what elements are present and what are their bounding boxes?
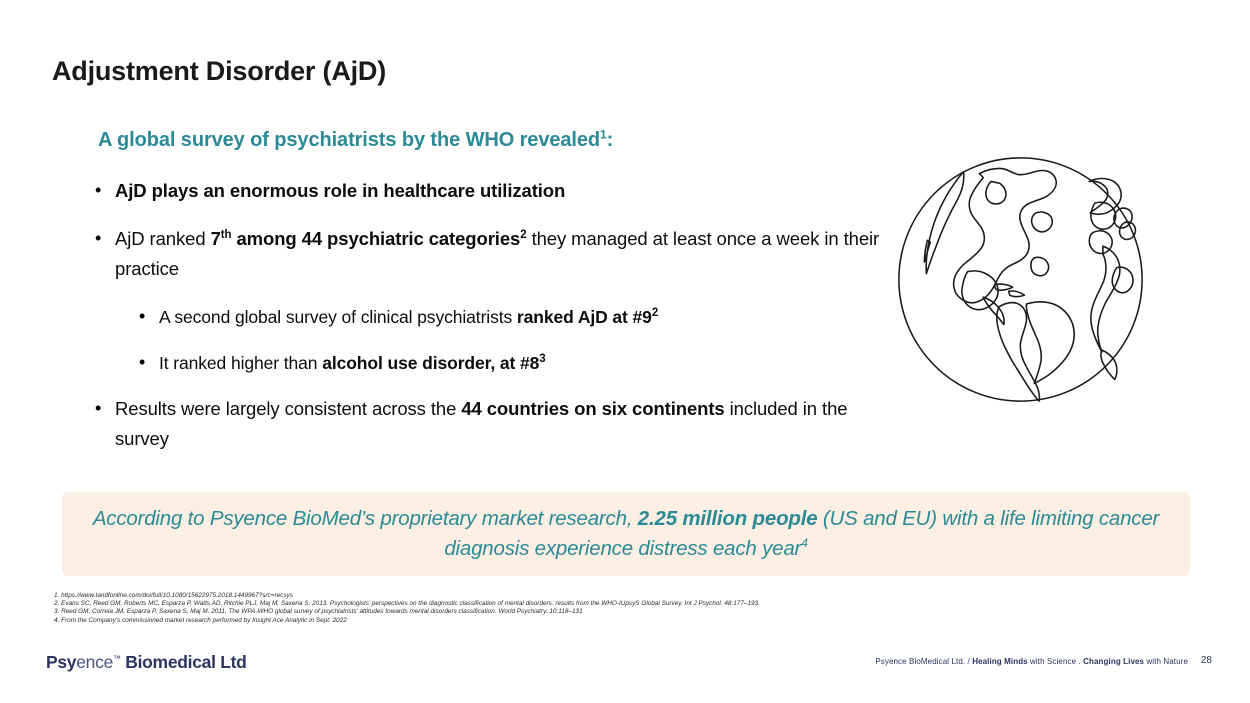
text-run: 2 bbox=[652, 307, 658, 319]
footnote-item: 1. https://www.tandfonline.com/doi/full/… bbox=[54, 592, 1054, 600]
logo-biomedical-ltd: Biomedical Ltd bbox=[125, 652, 246, 672]
bullet-marker-icon: • bbox=[95, 176, 115, 204]
bullet-item: •AjD plays an enormous role in healthcar… bbox=[95, 176, 885, 206]
bullet-marker-icon: • bbox=[139, 348, 159, 376]
logo-trademark: ™ bbox=[113, 654, 121, 663]
bullet-text: AjD plays an enormous role in healthcare… bbox=[115, 176, 565, 206]
bullet-text: AjD ranked 7th among 44 psychiatric cate… bbox=[115, 224, 885, 284]
text-run: 4 bbox=[801, 536, 807, 550]
bullet-text: It ranked higher than alcohol use disord… bbox=[159, 348, 546, 378]
page-number: 28 bbox=[1201, 655, 1212, 666]
bullet-item: •AjD ranked 7th among 44 psychiatric cat… bbox=[95, 224, 885, 284]
text-run: A second global survey of clinical psych… bbox=[159, 307, 517, 327]
text-run: Healing Minds bbox=[972, 657, 1028, 666]
bullet-marker-icon: • bbox=[95, 224, 115, 252]
text-run: with Science . bbox=[1028, 657, 1083, 666]
text-run: ranked AjD at #9 bbox=[517, 307, 652, 327]
text-run: 3 bbox=[539, 353, 545, 365]
logo-psy: Psy bbox=[46, 652, 76, 672]
footer-tagline: Psyence BioMedical Ltd. / Healing Minds … bbox=[875, 657, 1188, 666]
sub-bullet-item: •It ranked higher than alcohol use disor… bbox=[139, 348, 885, 378]
text-run: Results were largely consistent across t… bbox=[115, 398, 461, 419]
footnote-item: 4. From the Company’s commissioned marke… bbox=[54, 617, 1054, 625]
text-run: 44 countries on six continents bbox=[461, 398, 724, 419]
text-run: 7 bbox=[211, 228, 221, 249]
bullet-item: •Results were largely consistent across … bbox=[95, 394, 885, 454]
page-title: Adjustment Disorder (AjD) bbox=[52, 56, 386, 87]
callout-text: According to Psyence BioMed’s proprietar… bbox=[62, 504, 1190, 564]
text-run: Changing Lives bbox=[1083, 657, 1144, 666]
text-run: It ranked higher than bbox=[159, 353, 322, 373]
text-run: among 44 psychiatric categories bbox=[231, 228, 520, 249]
subtitle-superscript: 1 bbox=[600, 127, 607, 141]
subtitle-text: A global survey of psychiatrists by the … bbox=[98, 129, 600, 151]
bullet-text: A second global survey of clinical psych… bbox=[159, 302, 658, 332]
company-logo: Psyence™ Biomedical Ltd bbox=[46, 652, 247, 673]
callout-box: According to Psyence BioMed’s proprietar… bbox=[62, 492, 1190, 576]
sub-bullet-item: •A second global survey of clinical psyc… bbox=[139, 302, 885, 332]
text-run: According to Psyence BioMed’s proprietar… bbox=[93, 507, 638, 530]
subtitle-suffix: : bbox=[607, 129, 614, 151]
text-run: 2.25 million people bbox=[638, 507, 818, 530]
footnote-item: 3. Reed GM, Correia JM, Esparza P, Saxen… bbox=[54, 608, 1054, 616]
logo-ence: ence bbox=[76, 652, 113, 672]
text-run: alcohol use disorder, at #8 bbox=[322, 353, 539, 373]
footnote-item: 2. Evans SC, Reed GM, Roberts MC, Esparz… bbox=[54, 600, 1054, 608]
globe-icon bbox=[893, 152, 1148, 407]
slide: Adjustment Disorder (AjD) A global surve… bbox=[0, 0, 1250, 703]
text-run: Psyence BioMedical Ltd. / bbox=[875, 657, 972, 666]
text-run: AjD plays an enormous role in healthcare… bbox=[115, 180, 565, 201]
text-run: th bbox=[221, 229, 232, 241]
bullet-marker-icon: • bbox=[95, 394, 115, 422]
text-run: AjD ranked bbox=[115, 228, 211, 249]
bullet-marker-icon: • bbox=[139, 302, 159, 330]
text-run: with Nature bbox=[1144, 657, 1188, 666]
slide-subtitle: A global survey of psychiatrists by the … bbox=[98, 129, 613, 152]
bullet-list: •AjD plays an enormous role in healthcar… bbox=[95, 176, 885, 472]
footnote-list: 1. https://www.tandfonline.com/doi/full/… bbox=[54, 592, 1054, 625]
bullet-text: Results were largely consistent across t… bbox=[115, 394, 885, 454]
